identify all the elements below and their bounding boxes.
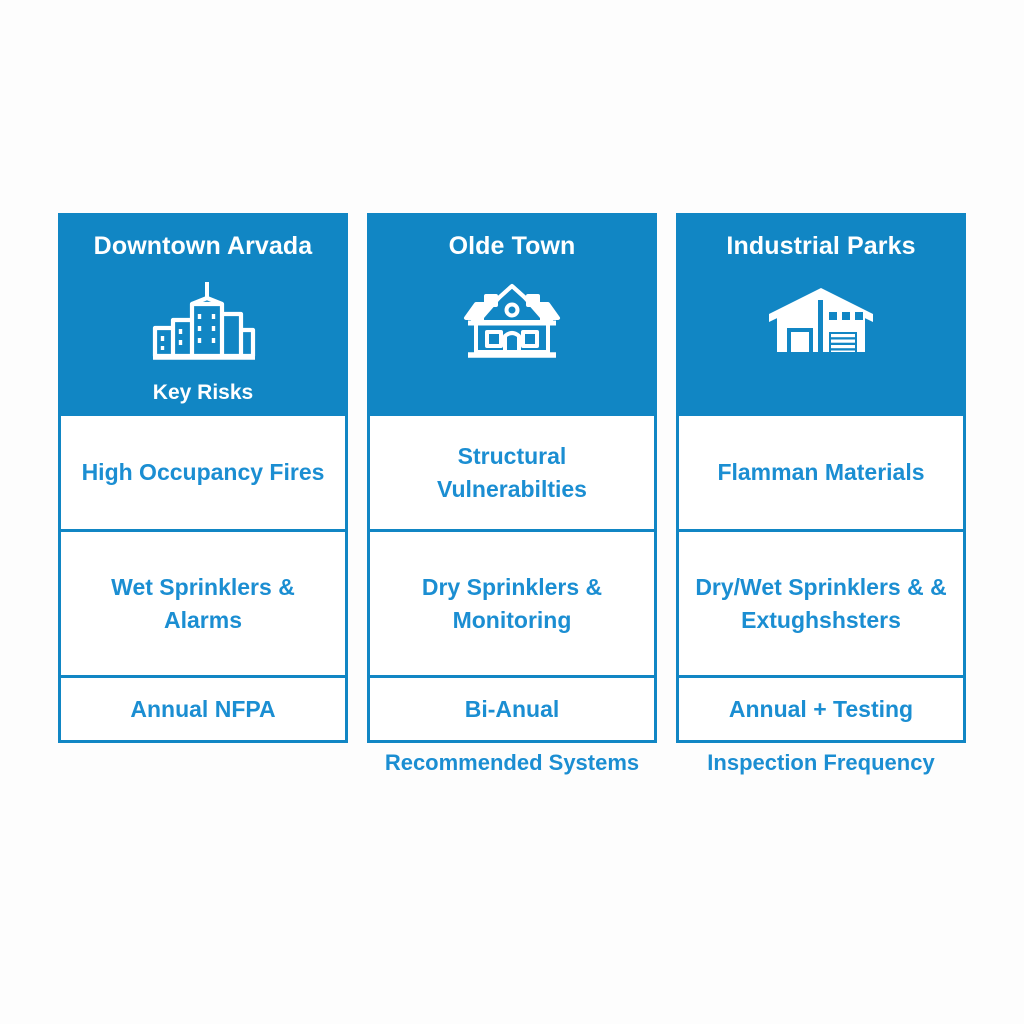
cell-text: Flamman Materials [717,456,924,489]
cell-text: Wet Sprinklers & Alarms [71,571,335,636]
city-skyline-icon [58,261,348,383]
warehouse-icon [676,261,966,383]
column-title: Olde Town [449,233,576,261]
cell-key-risk: Structural Vulnerabilties [370,416,654,529]
column-downtown-arvada: Downtown Arvada [58,213,348,743]
caption-recommended-systems: Recommended Systems [367,752,657,774]
cell-text: Annual + Testing [729,693,913,726]
column-subtitle: Key Risks [153,382,253,416]
house-icon [367,261,657,383]
column-olde-town: Olde Town [367,213,657,743]
column-header-olde-town: Olde Town [367,213,657,416]
column-body-downtown-arvada: High Occupancy Fires Wet Sprinklers & Al… [58,416,348,743]
cell-key-risk: Flamman Materials [679,416,963,529]
cell-text: High Occupancy Fires [82,456,325,489]
cell-text: Structural Vulnerabilties [380,440,644,505]
cell-text: Bi-Anual [465,693,560,726]
column-title: Industrial Parks [726,233,915,261]
cell-text: Dry/Wet Sprinklers & & Extughshsters [689,571,953,636]
cell-key-risk: High Occupancy Fires [61,416,345,529]
column-industrial-parks: Industrial Parks [676,213,966,743]
column-body-olde-town: Structural Vulnerabilties Dry Sprinklers… [367,416,657,743]
column-body-industrial-parks: Flamman Materials Dry/Wet Sprinklers & &… [676,416,966,743]
cell-recommended-system: Dry Sprinklers & Monitoring [370,529,654,675]
comparison-table: Downtown Arvada [58,213,966,743]
cell-inspection-frequency: Annual NFPA [61,675,345,740]
cell-recommended-system: Wet Sprinklers & Alarms [61,529,345,675]
diagram-canvas: Downtown Arvada [0,0,1024,1024]
cell-inspection-frequency: Annual + Testing [679,675,963,740]
footer-captions: Recommended Systems Inspection Frequency [58,752,966,788]
cell-text: Annual NFPA [130,693,275,726]
cell-inspection-frequency: Bi-Anual [370,675,654,740]
cell-text: Dry Sprinklers & Monitoring [380,571,644,636]
column-title: Downtown Arvada [94,233,313,261]
cell-recommended-system: Dry/Wet Sprinklers & & Extughshsters [679,529,963,675]
column-header-downtown-arvada: Downtown Arvada [58,213,348,416]
caption-inspection-frequency: Inspection Frequency [676,752,966,774]
column-header-industrial-parks: Industrial Parks [676,213,966,416]
